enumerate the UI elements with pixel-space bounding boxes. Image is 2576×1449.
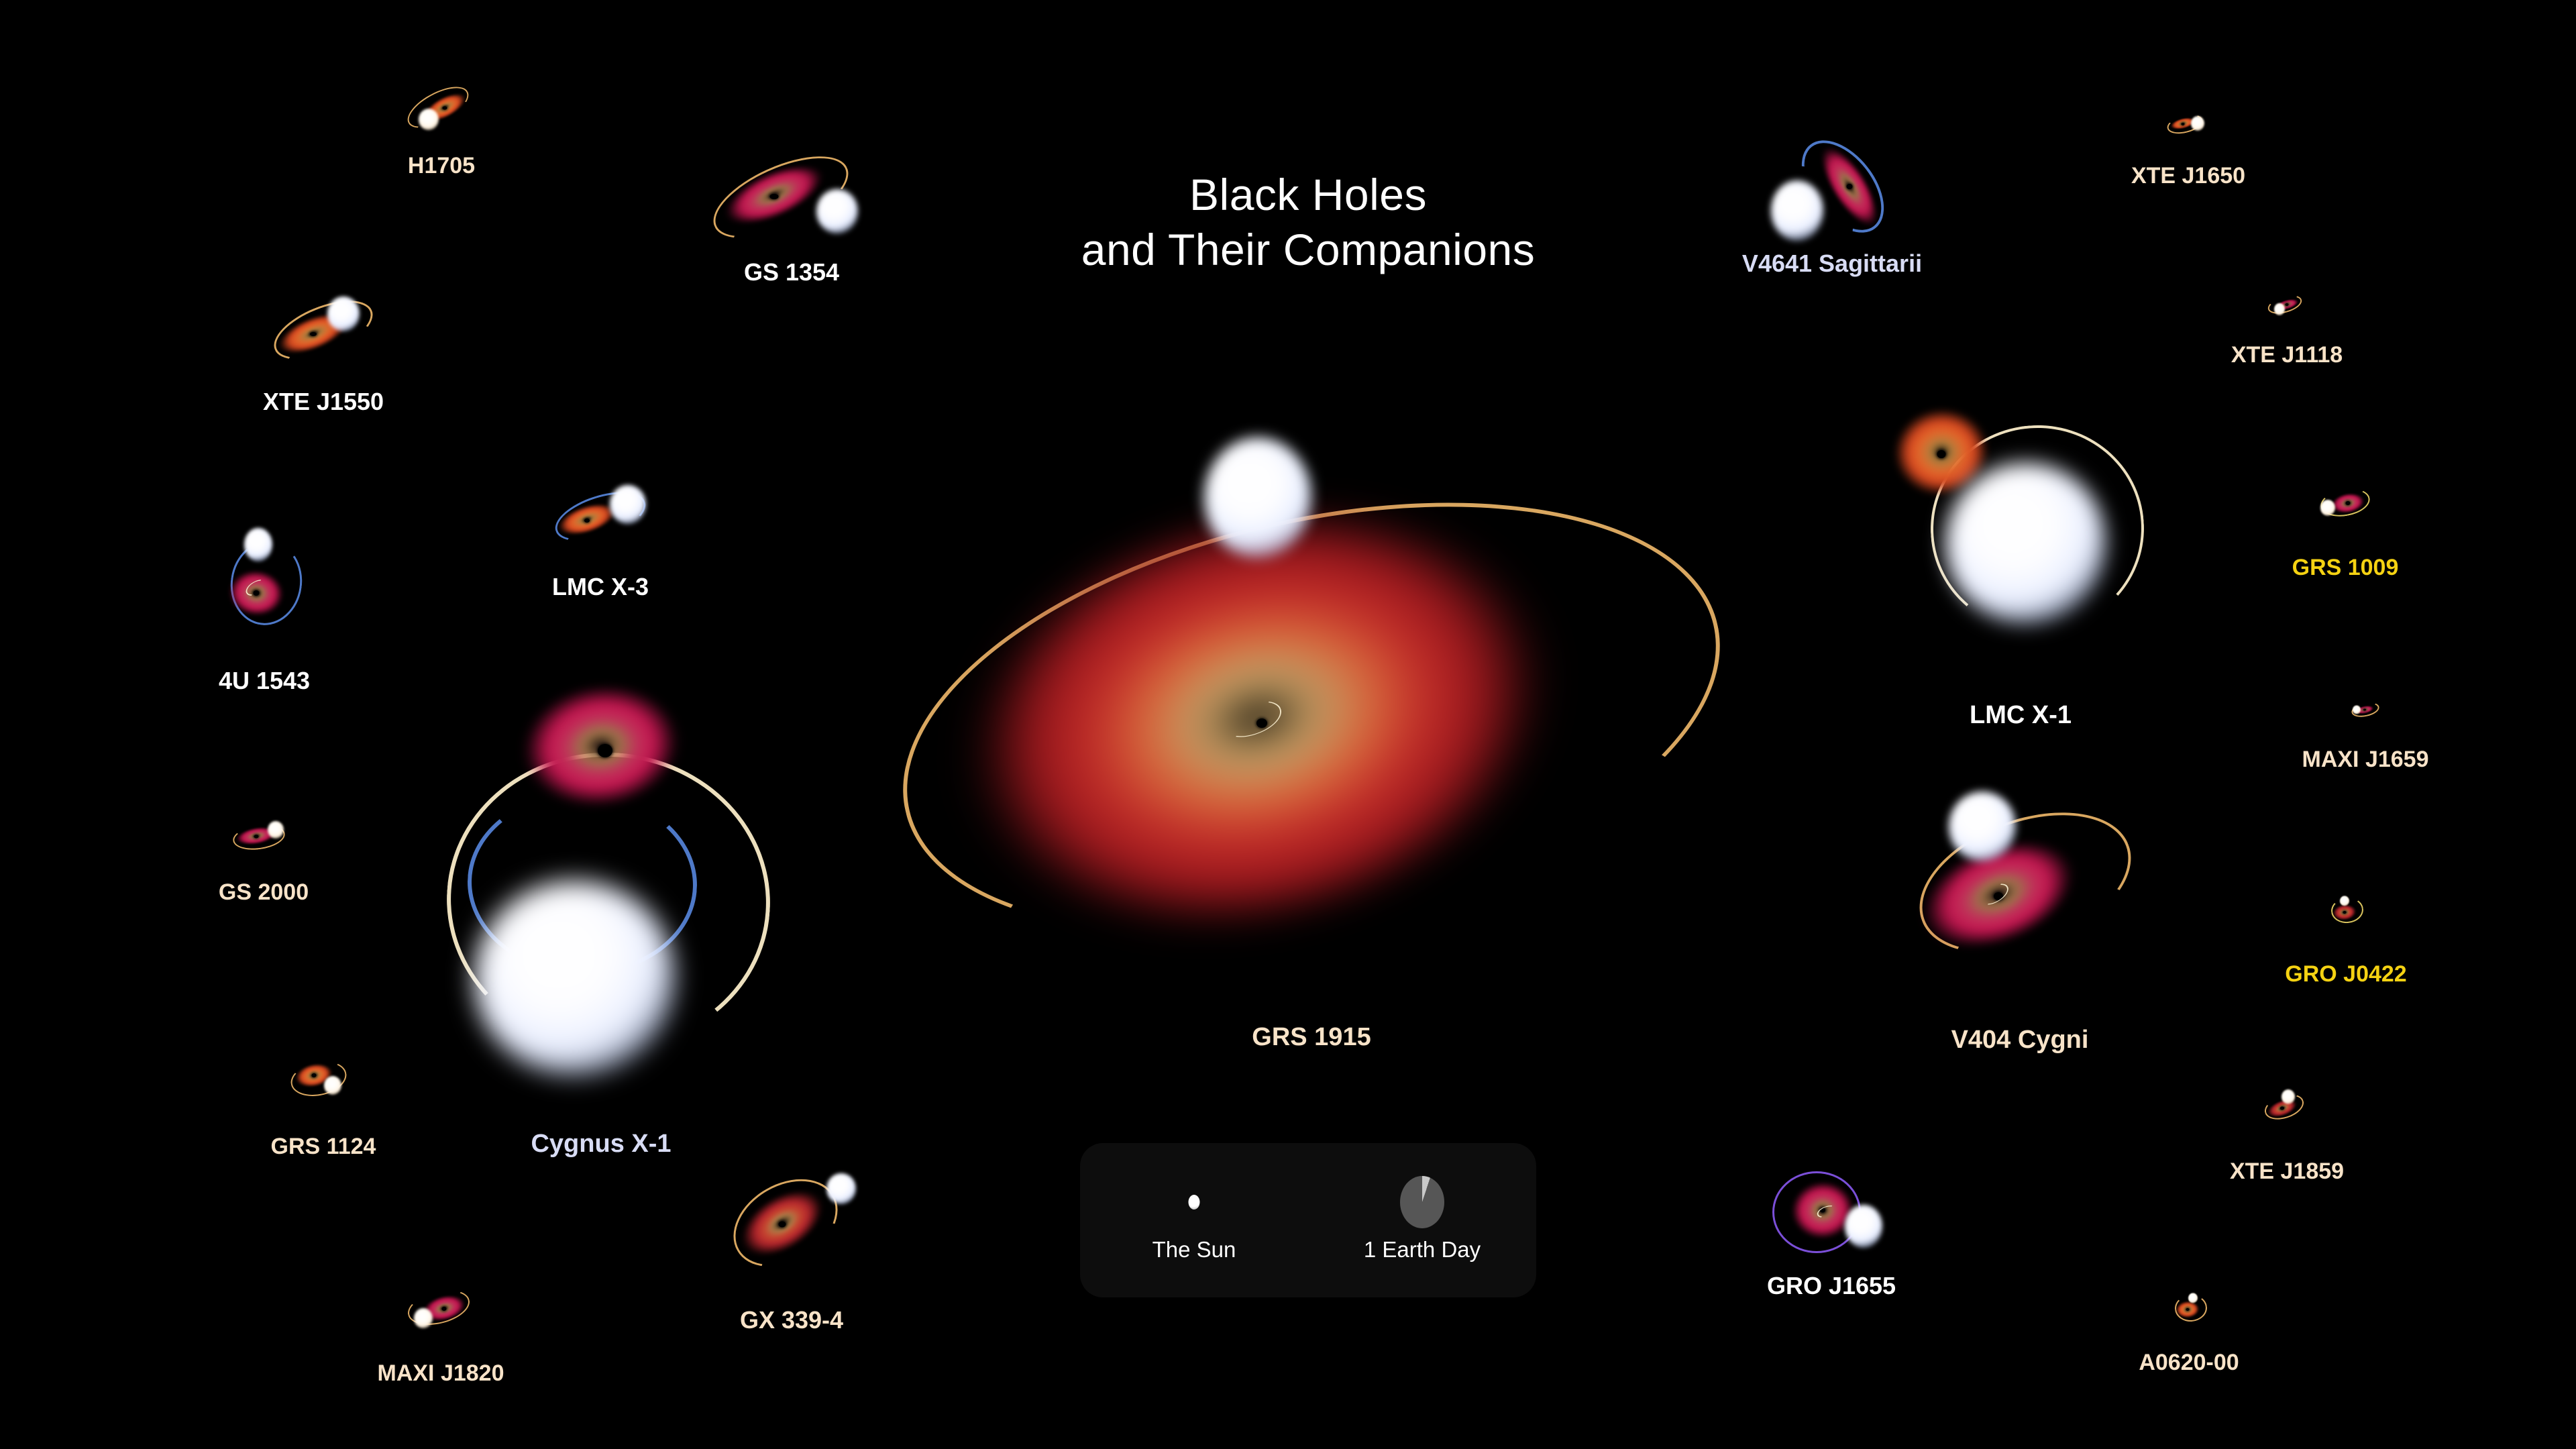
label-maxi-j1820[interactable]: MAXI J1820 <box>378 1360 504 1387</box>
companion-star <box>2188 1293 2198 1303</box>
v4641-sagittarii-art <box>1745 131 1919 252</box>
companion-star <box>826 1173 856 1204</box>
label-gs-1354[interactable]: GS 1354 <box>744 258 839 286</box>
companion-star <box>2340 896 2349 906</box>
companion-star <box>2320 500 2335 516</box>
companion-star <box>2191 116 2204 131</box>
companion-star <box>1945 463 2106 624</box>
label-a0620-00[interactable]: A0620-00 <box>2139 1350 2239 1376</box>
companion-star <box>244 528 272 561</box>
companion-star <box>1949 792 2016 861</box>
label-xte-j1550[interactable]: XTE J1550 <box>263 388 384 416</box>
label-gro-j0422[interactable]: GRO J0422 <box>2285 961 2406 987</box>
label-xte-j1118[interactable]: XTE J1118 <box>2231 342 2343 368</box>
label-grs-1915[interactable]: GRS 1915 <box>1252 1023 1371 1052</box>
gs-1354-art <box>704 149 879 250</box>
label-gro-j1655[interactable]: GRO J1655 <box>1767 1272 1896 1300</box>
4u-1543-art <box>214 518 315 639</box>
black-hole <box>1847 184 1853 189</box>
black-hole <box>598 744 612 757</box>
page-title: Black Holes and Their Companions <box>1033 168 1583 278</box>
h1705-art <box>401 84 482 138</box>
companion-star <box>2353 706 2361 714</box>
label-cygnus-x-1[interactable]: Cygnus X-1 <box>531 1130 671 1159</box>
companion-star <box>610 485 646 524</box>
gs-2000-art <box>227 812 301 859</box>
label-gs-2000[interactable]: GS 2000 <box>219 879 309 906</box>
black-hole <box>779 1222 786 1228</box>
label-xte-j1650[interactable]: XTE J1650 <box>2131 163 2245 189</box>
companion-star <box>474 881 676 1075</box>
label-h1705[interactable]: H1705 <box>408 153 475 179</box>
cygnus-x-1-art <box>413 678 789 1107</box>
legend-sun-label: The Sun <box>1152 1237 1236 1263</box>
label-lmc-x-3[interactable]: LMC X-3 <box>552 573 649 601</box>
black-hole <box>2286 303 2289 306</box>
black-hole <box>2346 501 2351 505</box>
lmc-x-3-art <box>543 480 657 553</box>
grs-1124-art <box>283 1052 364 1106</box>
companion-star <box>1771 180 1823 241</box>
companion-star <box>1845 1205 1882 1248</box>
title-line-2: and Their Companions <box>1033 223 1583 278</box>
companion-star <box>327 297 360 331</box>
xte-j1859-art <box>2257 1085 2317 1126</box>
companion-star <box>324 1076 341 1095</box>
label-grs-1124[interactable]: GRS 1124 <box>271 1134 376 1160</box>
black-hole <box>2363 709 2366 711</box>
label-4u-1543[interactable]: 4U 1543 <box>219 667 310 695</box>
v404-cygni-art <box>1886 782 2154 976</box>
black-hole <box>311 1073 316 1077</box>
label-grs-1009[interactable]: GRS 1009 <box>2292 555 2399 581</box>
maxi-j1659-art <box>2345 696 2385 723</box>
black-hole <box>442 107 447 110</box>
companion-star <box>816 189 858 233</box>
sky-canvas: Black Holes and Their Companions <box>0 0 2576 1449</box>
lmc-x-1-art <box>1880 396 2161 651</box>
earth-day-pie-icon <box>1400 1176 1444 1228</box>
label-lmc-x-1[interactable]: LMC X-1 <box>1970 701 2072 730</box>
label-gx-339-4[interactable]: GX 339-4 <box>740 1306 843 1334</box>
xte-j1118-art <box>2260 288 2314 322</box>
gro-j1655-art <box>1758 1164 1905 1265</box>
black-hole <box>254 835 259 839</box>
legend-day-label: 1 Earth Day <box>1364 1237 1481 1263</box>
legend-day-cell: 1 Earth Day <box>1308 1143 1536 1297</box>
sun-dot-icon <box>1189 1195 1200 1210</box>
companion-star <box>419 109 439 130</box>
black-hole <box>442 1307 447 1311</box>
scale-legend-panel: The Sun 1 Earth Day <box>1080 1143 1536 1297</box>
xte-j1650-art <box>2161 107 2215 141</box>
xte-j1550-art <box>260 288 387 369</box>
grs-1009-art <box>2308 480 2382 527</box>
maxi-j1820-art <box>397 1283 484 1336</box>
black-hole <box>310 332 317 336</box>
label-v404-cygni[interactable]: V404 Cygni <box>1951 1026 2089 1055</box>
companion-star <box>1204 437 1311 558</box>
black-hole <box>2280 1106 2284 1110</box>
gx-339-4-art <box>714 1164 869 1278</box>
label-v4641-sagittarii[interactable]: V4641 Sagittarii <box>1742 250 1922 278</box>
black-hole <box>2343 911 2347 914</box>
label-maxi-j1659[interactable]: MAXI J1659 <box>2302 747 2429 773</box>
companion-star <box>2274 303 2285 315</box>
black-hole <box>770 194 779 199</box>
companion-star <box>268 821 284 839</box>
label-xte-j1859[interactable]: XTE J1859 <box>2230 1159 2344 1185</box>
black-hole <box>2186 1308 2190 1311</box>
gro-j0422-art <box>2319 890 2373 930</box>
legend-sun-cell: The Sun <box>1080 1143 1308 1297</box>
black-hole <box>1937 450 1946 458</box>
companion-star <box>414 1308 433 1328</box>
a0620-00-art <box>2162 1287 2216 1327</box>
title-line-1: Black Holes <box>1033 168 1583 223</box>
grs-1915-art <box>865 436 1758 1000</box>
black-hole <box>2182 123 2185 125</box>
companion-star <box>2282 1089 2295 1104</box>
black-hole <box>584 519 590 523</box>
